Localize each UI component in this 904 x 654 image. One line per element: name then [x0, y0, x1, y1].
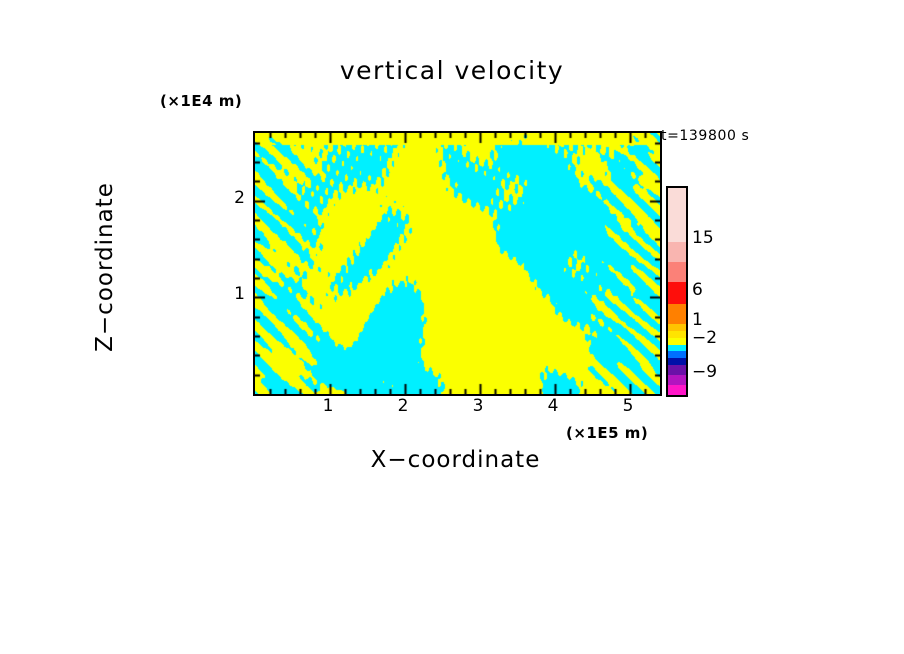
colorbar-band	[668, 351, 686, 358]
contour-plot-area	[253, 131, 662, 396]
colorbar	[666, 186, 688, 397]
colorbar-band	[668, 375, 686, 385]
x-tick-label: 3	[463, 396, 493, 416]
colorbar-label: −9	[692, 362, 717, 382]
x-tick-label: 2	[388, 396, 418, 416]
colorbar-band	[668, 324, 686, 331]
y-axis-unit-label: (×1E4 m)	[160, 92, 242, 110]
time-annotation: t=139800 s	[661, 128, 749, 144]
x-tick-label: 5	[613, 396, 643, 416]
colorbar-band	[668, 188, 686, 242]
colorbar-band	[668, 242, 686, 262]
colorbar-label: 1	[692, 310, 703, 330]
colorbar-label: 15	[692, 228, 714, 248]
colorbar-band	[668, 358, 686, 365]
vertical-velocity-field	[255, 133, 660, 394]
colorbar-band	[668, 385, 686, 395]
x-tick-label: 4	[538, 396, 568, 416]
y-tick-label: 2	[219, 188, 245, 208]
x-axis-unit-label: (×1E5 m)	[566, 424, 648, 442]
colorbar-band	[668, 331, 686, 338]
y-axis-title: Z−coordinate	[92, 127, 118, 407]
y-tick-label: 1	[219, 284, 245, 304]
colorbar-label: 6	[692, 280, 703, 300]
colorbar-label: −2	[692, 328, 717, 348]
page-title: vertical velocity	[0, 56, 904, 85]
colorbar-band	[668, 262, 686, 282]
colorbar-band	[668, 338, 686, 345]
x-tick-label: 1	[313, 396, 343, 416]
colorbar-band	[668, 304, 686, 324]
x-axis-title: X−coordinate	[253, 447, 658, 473]
colorbar-band	[668, 365, 686, 375]
colorbar-band	[668, 282, 686, 304]
